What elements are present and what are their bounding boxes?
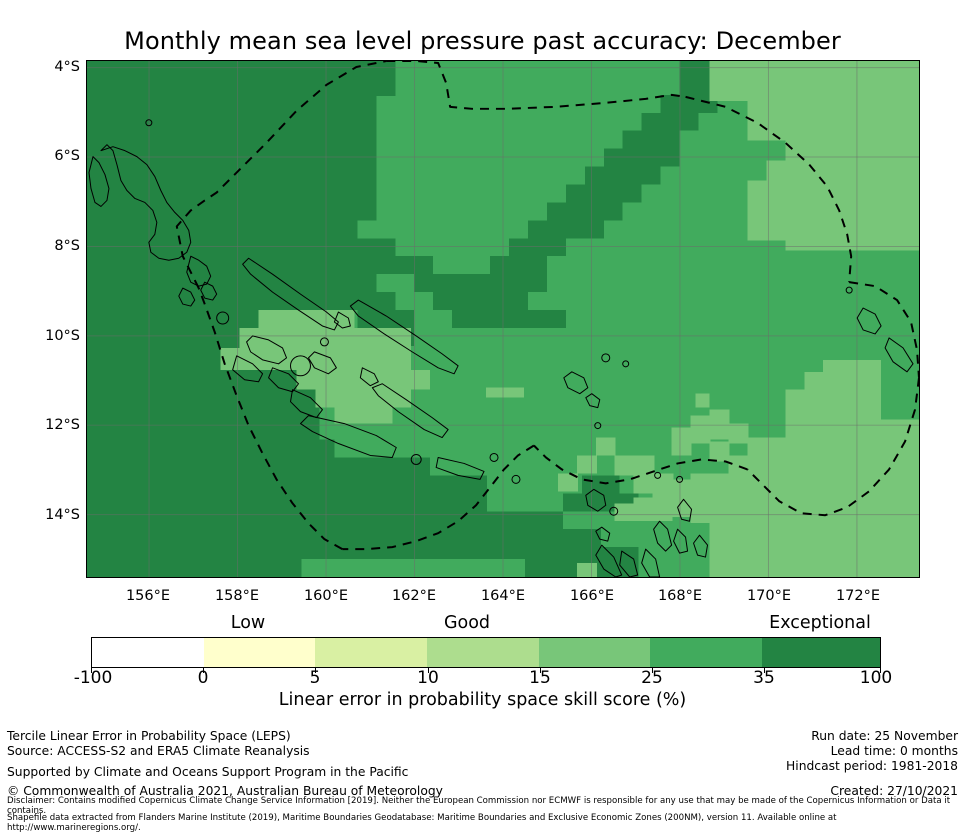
footer-run-block: Run date: 25 November Lead time: 0 month… bbox=[786, 729, 958, 775]
x-tick-label: 170°E bbox=[747, 588, 791, 604]
colorbar bbox=[91, 637, 881, 668]
colorbar-tick-label: 0 bbox=[198, 668, 209, 688]
footer-shapefile-credit: Shapefile data extracted from Flanders M… bbox=[7, 814, 957, 824]
colorbar-tick-label: 10 bbox=[417, 668, 439, 688]
colorbar-segment-5-10 bbox=[315, 638, 427, 667]
colorbar-tick-label: -100 bbox=[74, 668, 113, 688]
x-tick-label: 158°E bbox=[215, 588, 259, 604]
footer-support: Supported by Climate and Oceans Support … bbox=[7, 765, 408, 779]
colorbar-segment-15-25 bbox=[539, 638, 651, 667]
x-tick-label: 162°E bbox=[392, 588, 436, 604]
x-tick-label: 166°E bbox=[570, 588, 614, 604]
y-tick-label: 10°S bbox=[45, 328, 80, 344]
y-tick-label: 12°S bbox=[45, 417, 80, 433]
y-tick-label: 6°S bbox=[54, 148, 80, 164]
x-tick-label: 156°E bbox=[126, 588, 170, 604]
colorbar-tick-label: 5 bbox=[310, 668, 321, 688]
colorbar-gradient bbox=[91, 637, 881, 668]
footer-hindcast-period: Hindcast period: 1981-2018 bbox=[786, 759, 958, 774]
y-tick-label: 8°S bbox=[54, 238, 80, 254]
footer-shapefile-url: http://www.marineregions.org/. bbox=[7, 824, 957, 834]
footer-method: Tercile Linear Error in Probability Spac… bbox=[7, 729, 310, 744]
colorbar-category-exceptional: Exceptional bbox=[769, 613, 871, 633]
x-tick-label: 164°E bbox=[481, 588, 525, 604]
colorbar-segment-0-5 bbox=[204, 638, 316, 667]
map-plot-area bbox=[86, 60, 920, 578]
y-axis-labels: 4°S 6°S 8°S 10°S 12°S 14°S bbox=[0, 0, 80, 839]
colorbar-tick-label: 25 bbox=[641, 668, 663, 688]
footer-method-block: Tercile Linear Error in Probability Spac… bbox=[7, 729, 310, 759]
y-tick-label: 4°S bbox=[54, 59, 80, 75]
colorbar-category-good: Good bbox=[444, 613, 490, 633]
x-tick-label: 172°E bbox=[836, 588, 880, 604]
x-tick-label: 168°E bbox=[658, 588, 702, 604]
footer-run-date: Run date: 25 November bbox=[786, 729, 958, 744]
page-title: Monthly mean sea level pressure past acc… bbox=[0, 27, 965, 55]
colorbar-segment-35-100 bbox=[762, 638, 880, 667]
colorbar-segment-25-35 bbox=[650, 638, 762, 667]
footer-source: Source: ACCESS-S2 and ERA5 Climate Reana… bbox=[7, 744, 310, 759]
footer-lead-time: Lead time: 0 months bbox=[786, 744, 958, 759]
x-tick-label: 160°E bbox=[304, 588, 348, 604]
colorbar-tick-label: 100 bbox=[860, 668, 892, 688]
skill-score-heatmap bbox=[87, 61, 919, 577]
colorbar-tick-label: 15 bbox=[529, 668, 551, 688]
colorbar-segment-white bbox=[92, 638, 204, 667]
colorbar-axis-label: Linear error in probability space skill … bbox=[0, 690, 965, 710]
y-tick-label: 14°S bbox=[45, 507, 80, 523]
colorbar-tick-label: 35 bbox=[753, 668, 775, 688]
colorbar-segment-10-15 bbox=[427, 638, 539, 667]
colorbar-category-low: Low bbox=[231, 613, 265, 633]
